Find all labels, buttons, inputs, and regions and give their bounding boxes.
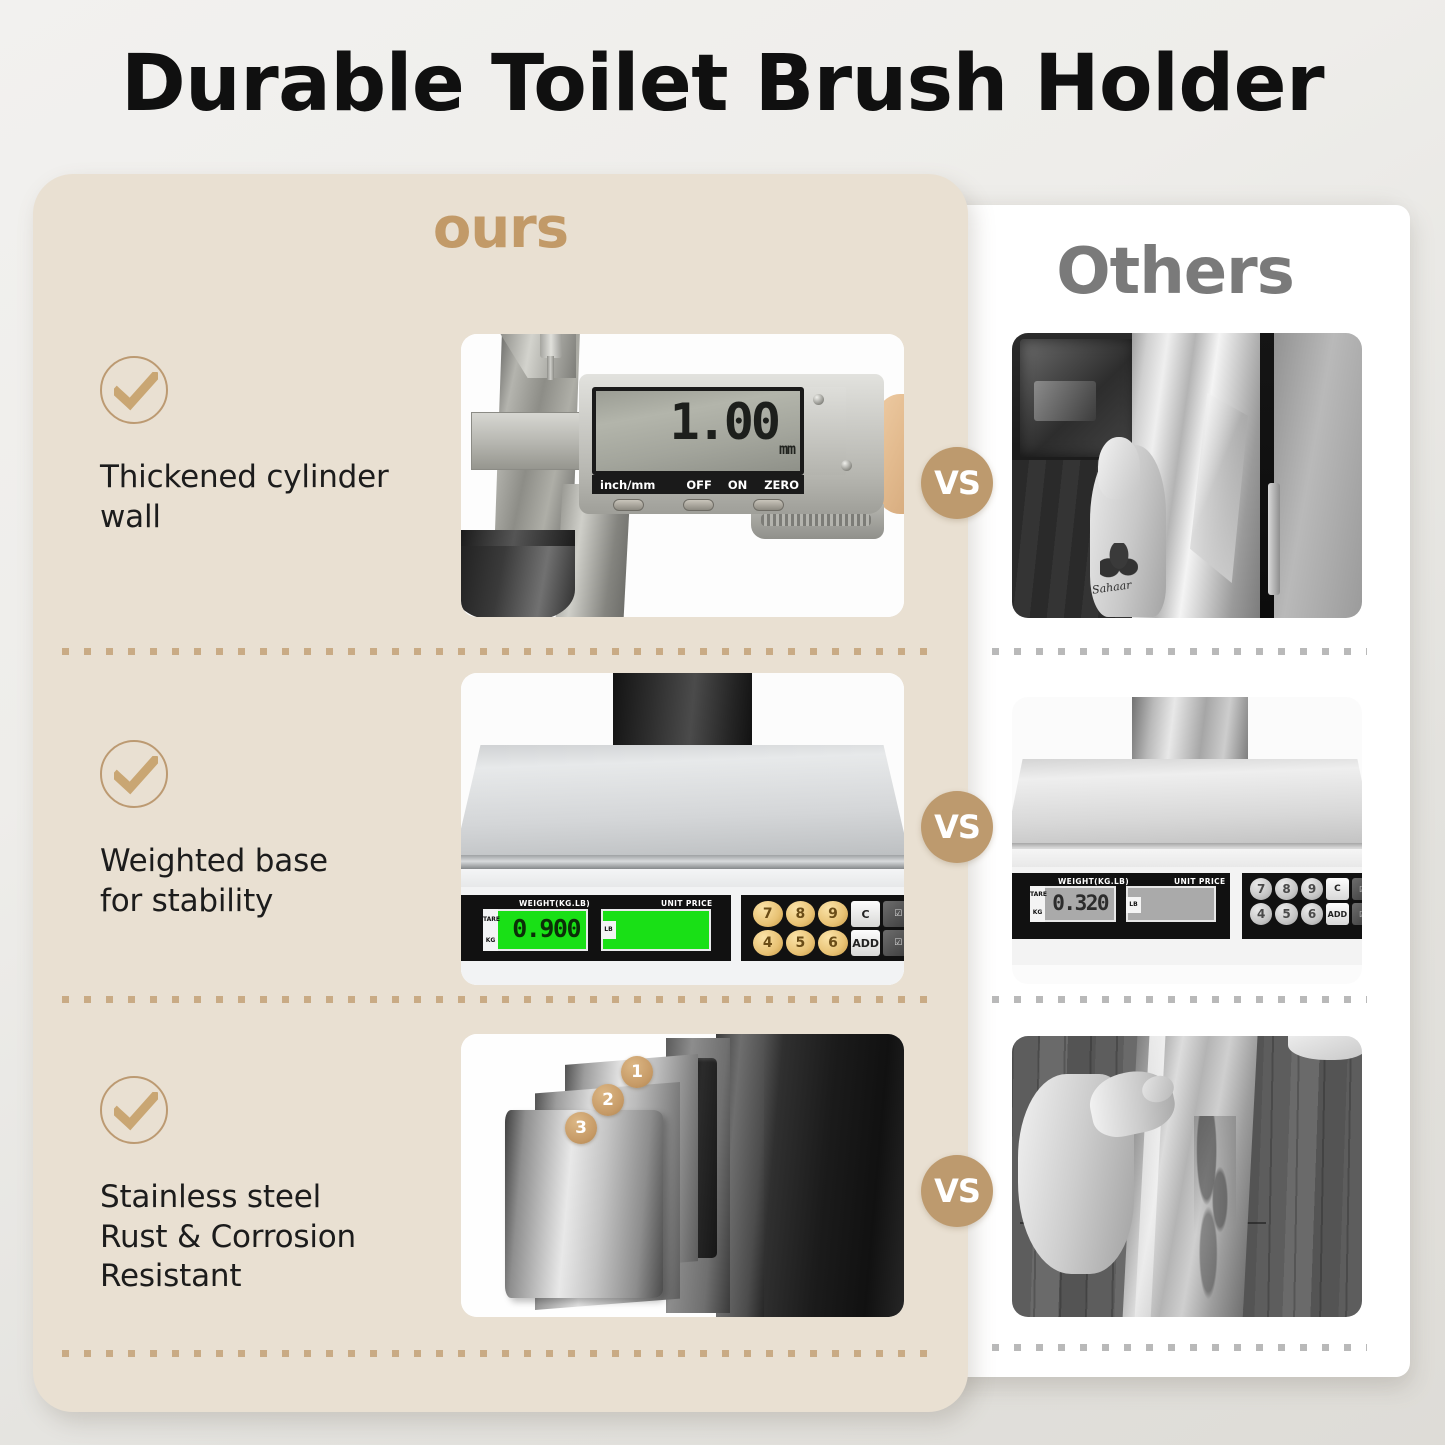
feature-label-2: Weighted base for stability: [100, 842, 450, 921]
scale-key-8: 8: [786, 901, 816, 927]
scale-key-9: 9: [818, 901, 848, 927]
scale-key-fn1: ☑: [883, 901, 904, 927]
scale-label-lb: LB: [1126, 897, 1141, 913]
scale-label-tare: TARE: [1030, 886, 1045, 904]
photo-ours-layers: 1 2 3: [461, 1034, 904, 1317]
feature-item-3: Stainless steel Rust & Corrosion Resista…: [100, 1076, 450, 1297]
divider-others-3: [992, 1344, 1367, 1351]
caliper-battery-plate: [804, 387, 846, 475]
scale-key-8: 8: [1275, 878, 1297, 900]
caliper-button-power: [683, 499, 714, 511]
feature-item-2: Weighted base for stability: [100, 740, 450, 921]
scale-key-5: 5: [1275, 903, 1297, 925]
scale-key-9: 9: [1301, 878, 1323, 900]
layer-badge-3: 3: [565, 1112, 597, 1144]
column-header-others: Others: [975, 235, 1375, 309]
feature-label-2-line-2: for stability: [100, 882, 450, 922]
scale-weight-value: 0.320: [1052, 893, 1108, 914]
divider-others-1: [992, 648, 1367, 655]
check-glyph: [114, 372, 158, 412]
layer-badge-1: 1: [621, 1056, 653, 1088]
vs-badge-2: VS: [921, 791, 993, 863]
caliper-button-mode: [613, 499, 644, 511]
scale-weighing-plate: [461, 745, 904, 863]
scale-key-6: 6: [818, 930, 848, 956]
check-icon: [100, 740, 168, 808]
holder-outer-body: [749, 1034, 904, 1317]
scale-label-unit-price: UNIT PRICE: [661, 899, 713, 908]
layer-badge-2: 2: [592, 1084, 624, 1116]
feature-label-1: Thickened cylinder wall: [100, 458, 450, 537]
feature-label-2-line-1: Weighted base: [100, 842, 450, 882]
scale-key-add: ADD: [851, 930, 881, 956]
cabinet-handle: [1268, 483, 1280, 595]
scale-key-4: 4: [1250, 903, 1272, 925]
scale-label-tare: TARE: [483, 909, 498, 930]
scale-weight-value: 0.900: [512, 916, 580, 941]
operator-thumb: [1098, 437, 1140, 499]
scale-key-c: C: [1326, 878, 1348, 900]
scale-label-unit-price: UNIT PRICE: [1174, 877, 1226, 886]
background-wall: [1270, 333, 1362, 618]
caliper-label-off: OFF: [686, 478, 712, 492]
scale-key-4: 4: [753, 930, 783, 956]
divider-ours-1: [62, 648, 937, 655]
scale-keypad: 7 8 9 C ☑ 4 5 6 ADD ☑: [753, 901, 904, 956]
divider-others-2: [992, 996, 1367, 1003]
scale-keypad: 7 8 9 C ☑ 4 5 6 ADD ☑: [1250, 878, 1362, 925]
scale-key-fn2: ☑: [883, 930, 904, 956]
photo-ours-scale: WEIGHT(KG.LB) UNIT PRICE 0.900 TARE KG L…: [461, 673, 904, 985]
caliper-label-inchmm: inch/mm: [600, 478, 655, 492]
scale-label-kg: KG: [483, 930, 498, 951]
scale-label-weight: WEIGHT(KG.LB): [1058, 877, 1129, 886]
hand-tattoo: [1100, 543, 1138, 583]
caliper-lcd-screen: 1.00 mm: [592, 387, 804, 475]
scale-key-6: 6: [1301, 903, 1323, 925]
feature-label-3-line-1: Stainless steel: [100, 1178, 450, 1218]
caliper-depth-rod: [547, 356, 554, 380]
check-glyph: [114, 756, 158, 796]
scale-label-kg: KG: [1030, 904, 1045, 922]
feature-label-3-line-2: Rust & Corrosion: [100, 1218, 450, 1258]
rust-stain: [1194, 1116, 1236, 1306]
scale-key-7: 7: [1250, 878, 1272, 900]
caliper-button-zero: [753, 499, 784, 511]
scale-weighing-plate: [1012, 759, 1362, 851]
caliper-button-label-bar: inch/mm OFF ON ZERO: [592, 475, 804, 494]
feature-item-1: Thickened cylinder wall: [100, 356, 450, 537]
divider-ours-2: [62, 996, 937, 1003]
scale-plate-edge: [461, 855, 904, 869]
photo-others-scale: WEIGHT(KG.LB) UNIT PRICE 0.320 TARE KG L…: [1012, 697, 1362, 984]
screw-icon: [841, 460, 852, 471]
photo-others-rust: [1012, 1036, 1362, 1317]
scale-label-lb: LB: [601, 921, 616, 939]
caliper-thumb-wheel: [540, 334, 562, 358]
caliper-grip-ridges: [761, 514, 871, 526]
scale-label-weight: WEIGHT(KG.LB): [519, 899, 590, 908]
check-icon: [100, 356, 168, 424]
check-icon: [100, 1076, 168, 1144]
scale-key-c: C: [851, 901, 881, 927]
photo-others-thin-wall: Sahaar: [1012, 333, 1362, 618]
feature-label-1-line-1: Thickened cylinder: [100, 458, 450, 498]
feature-label-3-line-3: Resistant: [100, 1257, 450, 1297]
scale-unit-price-display: [601, 909, 711, 951]
page-title: Durable Toilet Brush Holder: [0, 42, 1445, 128]
scale-key-add: ADD: [1326, 903, 1348, 925]
scale-key-5: 5: [786, 930, 816, 956]
vs-badge-3: VS: [921, 1155, 993, 1227]
scale-key-fn2: ☑: [1352, 903, 1362, 925]
check-glyph: [114, 1092, 158, 1132]
caliper-lcd-value: 1.00: [670, 397, 778, 447]
photo-ours-caliper: 1.00 mm inch/mm OFF ON ZERO: [461, 334, 904, 617]
caliper-label-zero: ZERO: [764, 478, 799, 492]
feature-label-1-line-2: wall: [100, 498, 450, 538]
screw-icon: [813, 394, 824, 405]
caliper-label-on: ON: [728, 478, 747, 492]
caliper-slider: [471, 412, 589, 470]
scale-key-7: 7: [753, 901, 783, 927]
divider-ours-3: [62, 1350, 937, 1357]
feature-label-3: Stainless steel Rust & Corrosion Resista…: [100, 1178, 450, 1297]
product-cylinder-rim: [461, 530, 575, 546]
vs-badge-1: VS: [921, 447, 993, 519]
column-header-ours: ours: [33, 196, 968, 261]
scale-key-fn1: ☑: [1352, 878, 1362, 900]
caliper-lcd-unit: mm: [779, 440, 795, 458]
